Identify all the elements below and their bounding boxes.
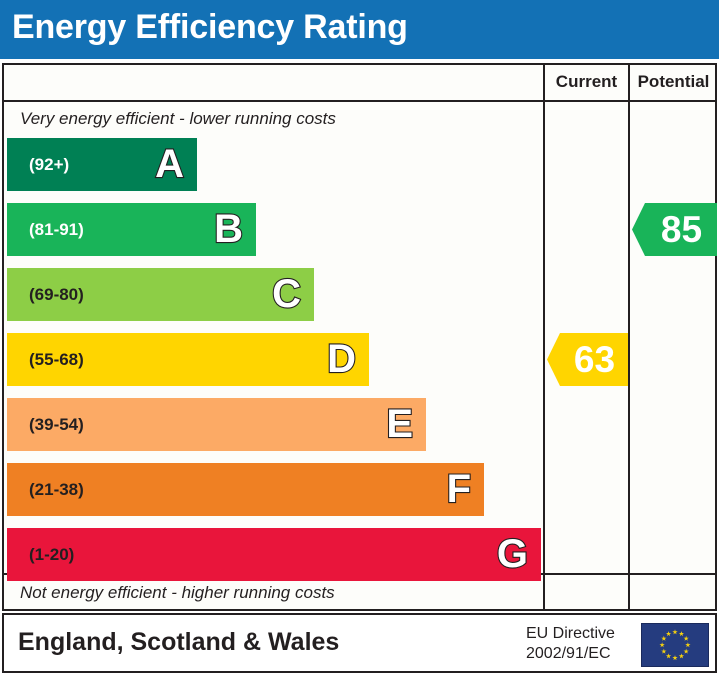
page-title: Energy Efficiency Rating <box>12 8 408 47</box>
rating-arrow-current: 63 <box>547 333 628 386</box>
energy-efficiency-certificate: Energy Efficiency Rating Current Potenti… <box>0 0 719 675</box>
band-range-label: (92+) <box>29 155 69 175</box>
band-letter-label: G <box>497 534 528 574</box>
band-letter-label: E <box>386 404 413 444</box>
rating-arrow-potential: 85 <box>632 203 717 256</box>
title-bar: Energy Efficiency Rating <box>0 0 719 59</box>
band-letter-label: C <box>272 274 301 314</box>
rating-band-c: (69-80)C <box>7 268 314 321</box>
eu-flag-stars <box>642 624 708 666</box>
directive-line-1: EU Directive <box>526 625 615 642</box>
potential-column-divider <box>628 65 630 609</box>
caption-top: Very energy efficient - lower running co… <box>20 109 336 129</box>
column-header-potential: Potential <box>630 72 717 92</box>
rating-band-b: (81-91)B <box>7 203 256 256</box>
directive-line-2: 2002/91/EC <box>526 645 611 662</box>
band-range-label: (39-54) <box>29 415 84 435</box>
eu-flag-icon <box>641 623 709 667</box>
band-range-label: (1-20) <box>29 545 74 565</box>
band-letter-label: F <box>447 469 471 509</box>
band-range-label: (55-68) <box>29 350 84 370</box>
rating-table: Current Potential Very energy efficient … <box>2 63 717 611</box>
band-range-label: (21-38) <box>29 480 84 500</box>
rating-band-d: (55-68)D <box>7 333 369 386</box>
rating-band-a: (92+)A <box>7 138 197 191</box>
band-range-label: (81-91) <box>29 220 84 240</box>
footer-region-label: England, Scotland & Wales <box>18 628 339 657</box>
band-letter-label: A <box>155 144 184 184</box>
rating-band-e: (39-54)E <box>7 398 426 451</box>
rating-value-potential: 85 <box>647 211 702 248</box>
rating-bands: (92+)A(81-91)B(69-80)C(55-68)D(39-54)E(2… <box>4 138 541 573</box>
rating-band-f: (21-38)F <box>7 463 484 516</box>
rating-band-g: (1-20)G <box>7 528 541 581</box>
footer-bar: England, Scotland & Wales EU Directive20… <box>2 613 717 673</box>
band-letter-label: D <box>327 339 356 379</box>
caption-bottom: Not energy efficient - higher running co… <box>20 583 335 603</box>
column-header-current: Current <box>545 72 628 92</box>
rating-value-current: 63 <box>560 341 615 378</box>
footer-directive-label: EU Directive2002/91/EC <box>526 624 615 665</box>
current-column-divider <box>543 65 545 609</box>
band-letter-label: B <box>214 209 243 249</box>
header-divider <box>4 100 715 102</box>
band-range-label: (69-80) <box>29 285 84 305</box>
